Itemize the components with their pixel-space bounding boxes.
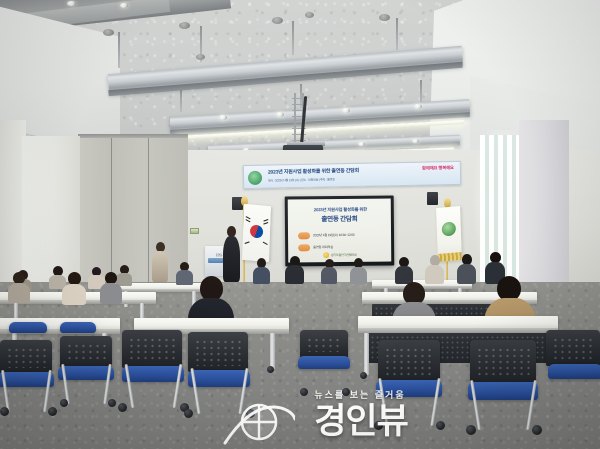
person-body — [285, 265, 304, 284]
chair-backrest — [122, 330, 182, 368]
chair-backrest — [300, 330, 348, 358]
beam-hanger-rod — [180, 88, 182, 112]
chair-seat — [468, 382, 538, 400]
audience-member — [62, 272, 86, 304]
recessed-downlight-icon — [305, 12, 314, 18]
organization-emblem-icon — [442, 221, 456, 236]
person-body — [62, 284, 86, 305]
audience-member — [425, 255, 444, 283]
table-caster — [267, 366, 274, 373]
audience-member — [457, 254, 476, 283]
slide-bullet-chip-icon — [298, 244, 310, 251]
audience-member — [253, 258, 270, 283]
recessed-downlight-icon — [358, 142, 365, 146]
chair-seat — [188, 370, 250, 387]
recessed-downlight-icon — [179, 22, 190, 29]
slide-line-2: 출연동 간담회 — [293, 215, 386, 225]
chair-backrest — [378, 340, 440, 382]
banner-sub-text: 일시 : 2023년 4월 19일 (수) | 장소 : 대회의실 | 주최 :… — [268, 175, 453, 184]
person-body — [457, 264, 476, 284]
beam-hanger-rod — [420, 80, 422, 104]
recessed-downlight-icon — [120, 3, 128, 8]
chair-caster — [374, 421, 383, 430]
recessed-downlight-icon — [276, 112, 284, 117]
slide-bullet-2-text: 출연동 대회의실 — [313, 245, 333, 250]
person-body — [152, 251, 168, 282]
chair-caster — [342, 388, 350, 396]
chair-caster — [0, 407, 9, 416]
chair-seat — [60, 322, 96, 333]
audience-member — [100, 272, 122, 303]
emergency-exit-sign-icon — [190, 228, 199, 234]
chair-caster — [184, 409, 193, 418]
chair-seat — [9, 322, 47, 333]
slide-bullet-chip-icon — [298, 232, 310, 239]
taeguk-symbol-icon — [248, 223, 265, 240]
beam-hanger-rod — [396, 18, 398, 50]
recessed-downlight-icon — [67, 1, 76, 6]
recessed-downlight-icon — [414, 104, 422, 109]
chair-backrest — [470, 340, 536, 384]
projection-screen: 2023년 지원사업 활성화를 위한 출연동 간담회 2023년 4월 19일(… — [288, 199, 392, 263]
seminar-room-photograph: 2023년 지원사업 활성화를 위한 출연동 간담회 일시 : 2023년 4월… — [0, 0, 600, 449]
slide-footer-text: 경기도출연기관협의회 — [331, 253, 357, 257]
chair-seat — [298, 356, 350, 369]
chair-caster — [60, 399, 68, 407]
recessed-downlight-icon — [342, 108, 350, 113]
slide-footer-logo-icon — [323, 252, 329, 258]
chair-backrest — [0, 340, 52, 374]
person-body — [350, 267, 367, 284]
audience-member — [395, 257, 413, 283]
chair-seat — [376, 380, 442, 397]
presenter-right — [222, 226, 241, 282]
chair-seat — [548, 364, 600, 379]
audience-member — [285, 256, 304, 283]
chair-caster — [532, 425, 542, 435]
beam-hanger-rod — [292, 21, 294, 55]
table-caster — [360, 372, 367, 379]
slide-bullet-row: 출연동 대회의실 — [298, 244, 333, 251]
chair-backrest — [60, 336, 112, 368]
chair-caster — [436, 421, 445, 430]
recessed-downlight-icon — [379, 14, 390, 21]
person-body — [100, 283, 122, 304]
recessed-downlight-icon — [196, 54, 205, 60]
chair-seat — [122, 366, 184, 382]
movable-partition-wall — [78, 138, 188, 288]
recessed-downlight-icon — [272, 17, 283, 24]
audience-member — [321, 259, 337, 283]
chair-caster — [48, 407, 57, 416]
wall-speaker-icon — [427, 192, 438, 205]
beam-hanger-rod — [118, 32, 120, 68]
slide-bullet-row: 2023년 4월 19일(수) 10:30~12:00 — [298, 232, 354, 239]
chair-caster — [466, 425, 476, 435]
event-banner: 2023년 지원사업 활성화를 위한 출연동 간담회 일시 : 2023년 4월… — [243, 161, 461, 189]
audience-member — [8, 272, 30, 302]
presenter-left — [151, 242, 169, 282]
chair-caster — [246, 409, 255, 418]
wall-column-right — [519, 120, 569, 295]
banner-logo-icon — [248, 171, 262, 185]
chair-caster — [108, 399, 116, 407]
banner-main-text: 2023년 지원사업 활성화를 위한 출연동 간담회 — [268, 167, 414, 177]
chair-caster — [300, 388, 308, 396]
person-body — [253, 267, 270, 284]
chair-backrest — [188, 332, 248, 372]
banner-handwritten-text: 함께해요 행복해요 — [421, 165, 455, 172]
table-leg — [270, 333, 275, 369]
korean-national-flag — [242, 204, 271, 262]
chair-backrest — [546, 330, 600, 366]
slide-line-1: 2023년 지원사업 활성화를 위한 — [295, 207, 386, 214]
recessed-downlight-icon — [219, 115, 227, 120]
audience-member — [350, 258, 367, 283]
chair-seat — [58, 366, 114, 380]
person-body — [321, 267, 337, 284]
recessed-downlight-icon — [103, 29, 114, 36]
chair-caster — [118, 403, 127, 412]
slide-bullet-1-text: 2023년 4월 19일(수) 10:30~12:00 — [313, 233, 354, 238]
table-leg — [364, 333, 369, 375]
person-body — [8, 283, 30, 303]
recessed-downlight-icon — [412, 139, 419, 143]
